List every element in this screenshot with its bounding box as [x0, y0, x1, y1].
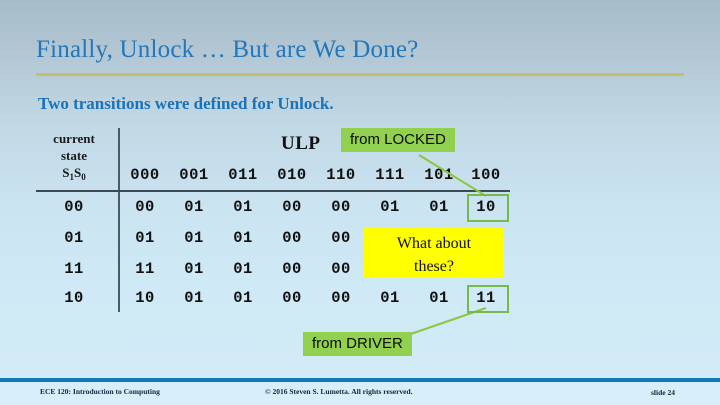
callout-from-locked: from LOCKED: [341, 128, 455, 152]
table-column-header: 010: [270, 166, 314, 184]
callout-line-2: these?: [364, 255, 504, 278]
table-row-label: 10: [36, 289, 112, 307]
table-column-header: 001: [172, 166, 216, 184]
footer-slide-number: slide 24: [651, 388, 675, 397]
table-cell: 01: [368, 198, 412, 216]
table-cell: 11: [123, 260, 167, 278]
table-input-label: ULP: [281, 133, 321, 155]
table-cell: 00: [270, 229, 314, 247]
table-column-header: 101: [417, 166, 461, 184]
table-row-header-label: current state S1S0: [36, 130, 112, 183]
highlight-box-bottom: [467, 285, 509, 313]
table-row-label: 00: [36, 198, 112, 216]
callout-from-driver: from DRIVER: [303, 332, 412, 356]
table-cell: 00: [319, 229, 363, 247]
slide-canvas: Finally, Unlock … But are We Done? Two t…: [0, 0, 720, 405]
footer-copyright: © 2016 Steven S. Lumetta. All rights res…: [265, 387, 413, 396]
table-cell: 01: [221, 260, 265, 278]
table-cell: 00: [123, 198, 167, 216]
page-title: Finally, Unlock … But are We Done?: [36, 36, 418, 64]
table-column-header: 000: [123, 166, 167, 184]
table-cell: 00: [270, 198, 314, 216]
table-cell: 01: [221, 229, 265, 247]
table-cell: 01: [172, 260, 216, 278]
highlight-box-top: [467, 194, 509, 222]
row-header-line-3: S1S0: [36, 164, 112, 183]
callout-line-1: What about: [364, 232, 504, 255]
table-cell: 01: [123, 229, 167, 247]
table-cell: 01: [368, 289, 412, 307]
table-cell: 00: [270, 289, 314, 307]
slide-subtitle: Two transitions were defined for Unlock.: [38, 94, 334, 114]
table-cell: 00: [319, 198, 363, 216]
table-cell: 00: [270, 260, 314, 278]
table-cell: 10: [123, 289, 167, 307]
table-column-header: 110: [319, 166, 363, 184]
table-vertical-rule: [118, 128, 120, 312]
row-header-line-2: state: [36, 147, 112, 164]
table-cell: 01: [221, 198, 265, 216]
table-cell: 01: [172, 198, 216, 216]
table-row-label: 11: [36, 260, 112, 278]
table-cell: 01: [417, 289, 461, 307]
callout-what-about-these: What about these?: [364, 228, 504, 278]
row-header-line-1: current: [36, 130, 112, 147]
table-column-header: 111: [368, 166, 412, 184]
table-cell: 01: [172, 289, 216, 307]
table-row-label: 01: [36, 229, 112, 247]
table-column-header: 011: [221, 166, 265, 184]
table-horizontal-rule: [36, 190, 510, 192]
table-column-header: 100: [464, 166, 508, 184]
table-cell: 00: [319, 289, 363, 307]
table-cell: 01: [417, 198, 461, 216]
title-divider: [36, 73, 684, 76]
table-cell: 01: [172, 229, 216, 247]
table-cell: 00: [319, 260, 363, 278]
footer-course-name: ECE 120: Introduction to Computing: [40, 387, 160, 396]
table-cell: 01: [221, 289, 265, 307]
